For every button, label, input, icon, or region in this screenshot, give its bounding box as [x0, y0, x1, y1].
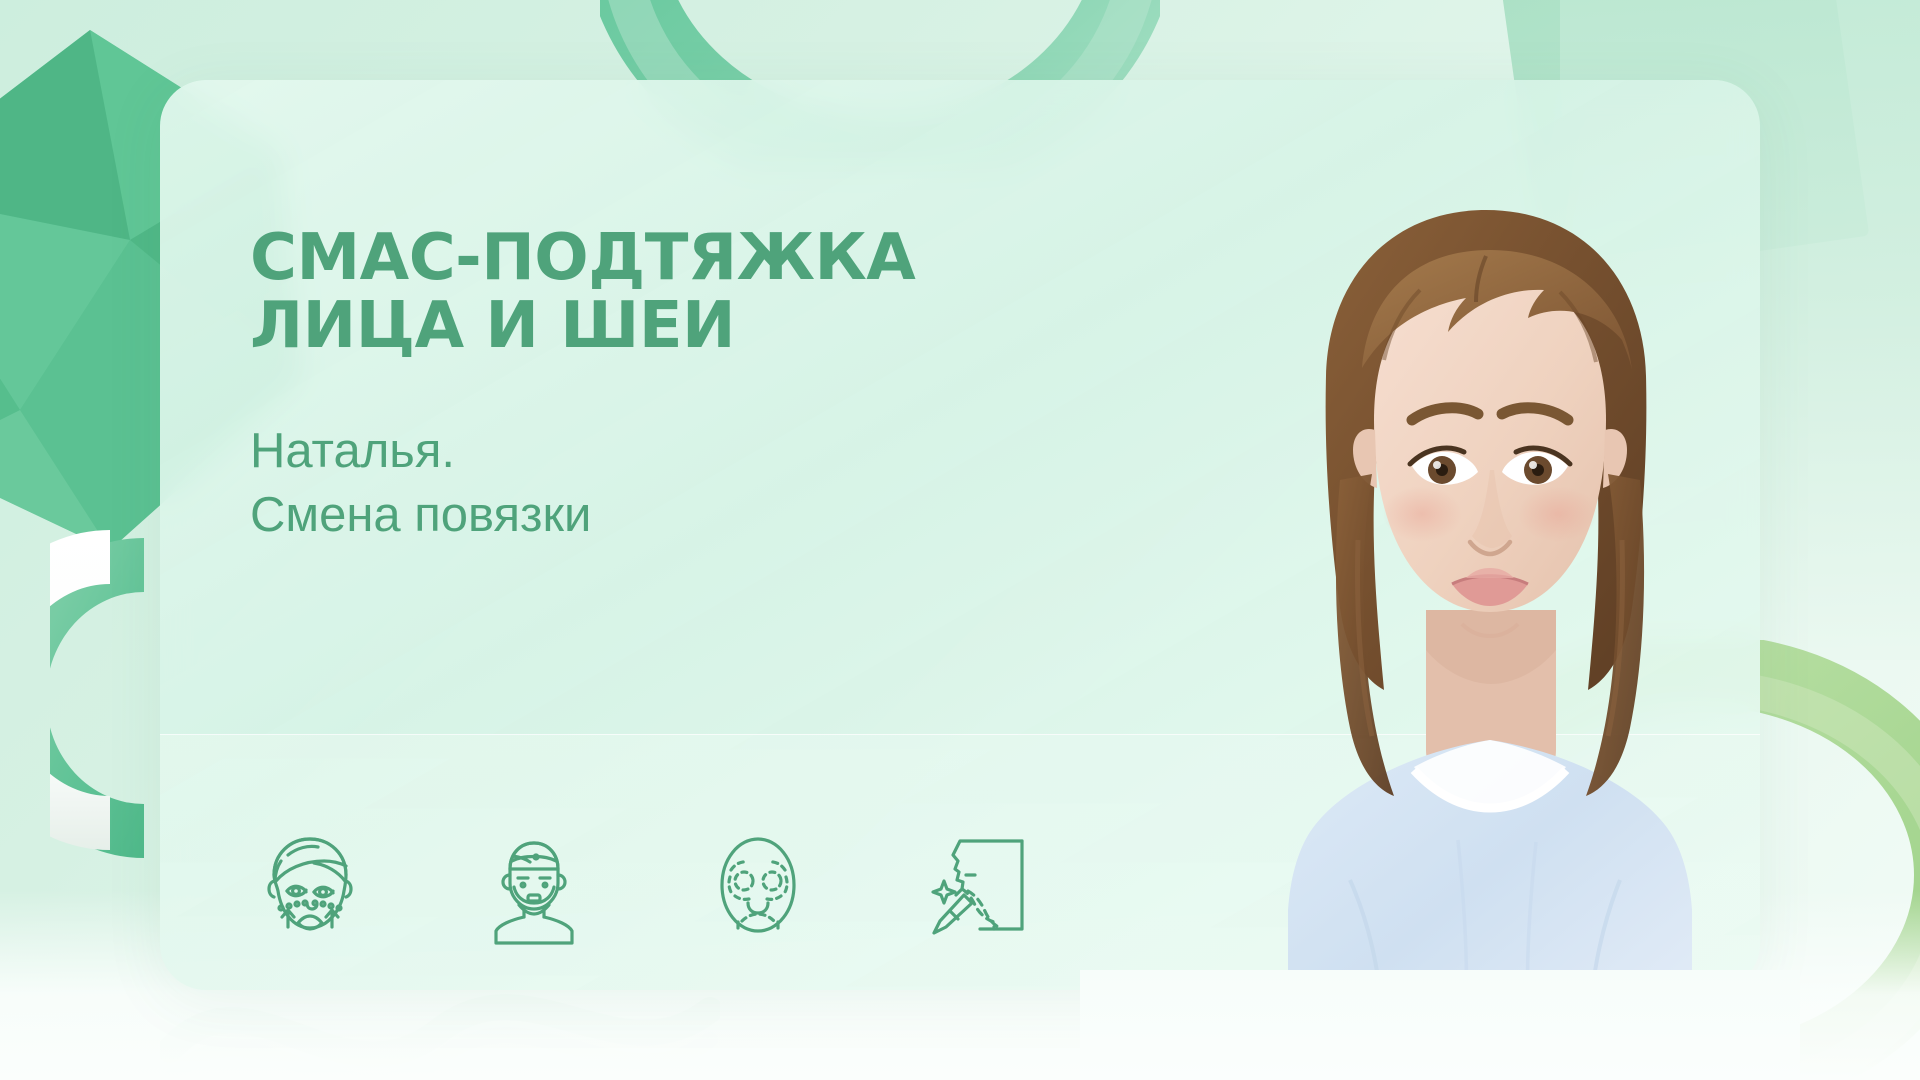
portrait-illustration [1190, 180, 1760, 990]
thumbnail-stage: СМАС-ПОДТЯЖКА ЛИЦА И ШЕИ Наталья. Смена … [0, 0, 1920, 1080]
headline-line-2: ЛИЦА И ШЕИ [250, 293, 1150, 361]
page-title: СМАС-ПОДТЯЖКА ЛИЦА И ШЕИ [250, 225, 1150, 361]
text-block: СМАС-ПОДТЯЖКА ЛИЦА И ШЕИ Наталья. Смена … [250, 225, 1150, 548]
subtitle-line-1: Наталья. [250, 419, 1150, 484]
patient-portrait [1190, 180, 1760, 990]
headline-line-1: СМАС-ПОДТЯЖКА [250, 225, 1150, 293]
profile-jawline-contour-icon [922, 825, 1042, 945]
head-shoulders-compression-icon [474, 825, 594, 945]
face-headwrap-lift-icon [250, 825, 370, 945]
subtitle: Наталья. Смена повязки [250, 419, 1150, 548]
portrait-base-strip [1080, 970, 1800, 1080]
subtitle-line-2: Смена повязки [250, 483, 1150, 548]
face-oval-dashed-markup-icon [698, 825, 818, 945]
glass-card: СМАС-ПОДТЯЖКА ЛИЦА И ШЕИ Наталья. Смена … [160, 80, 1760, 990]
icon-row [250, 825, 1042, 945]
